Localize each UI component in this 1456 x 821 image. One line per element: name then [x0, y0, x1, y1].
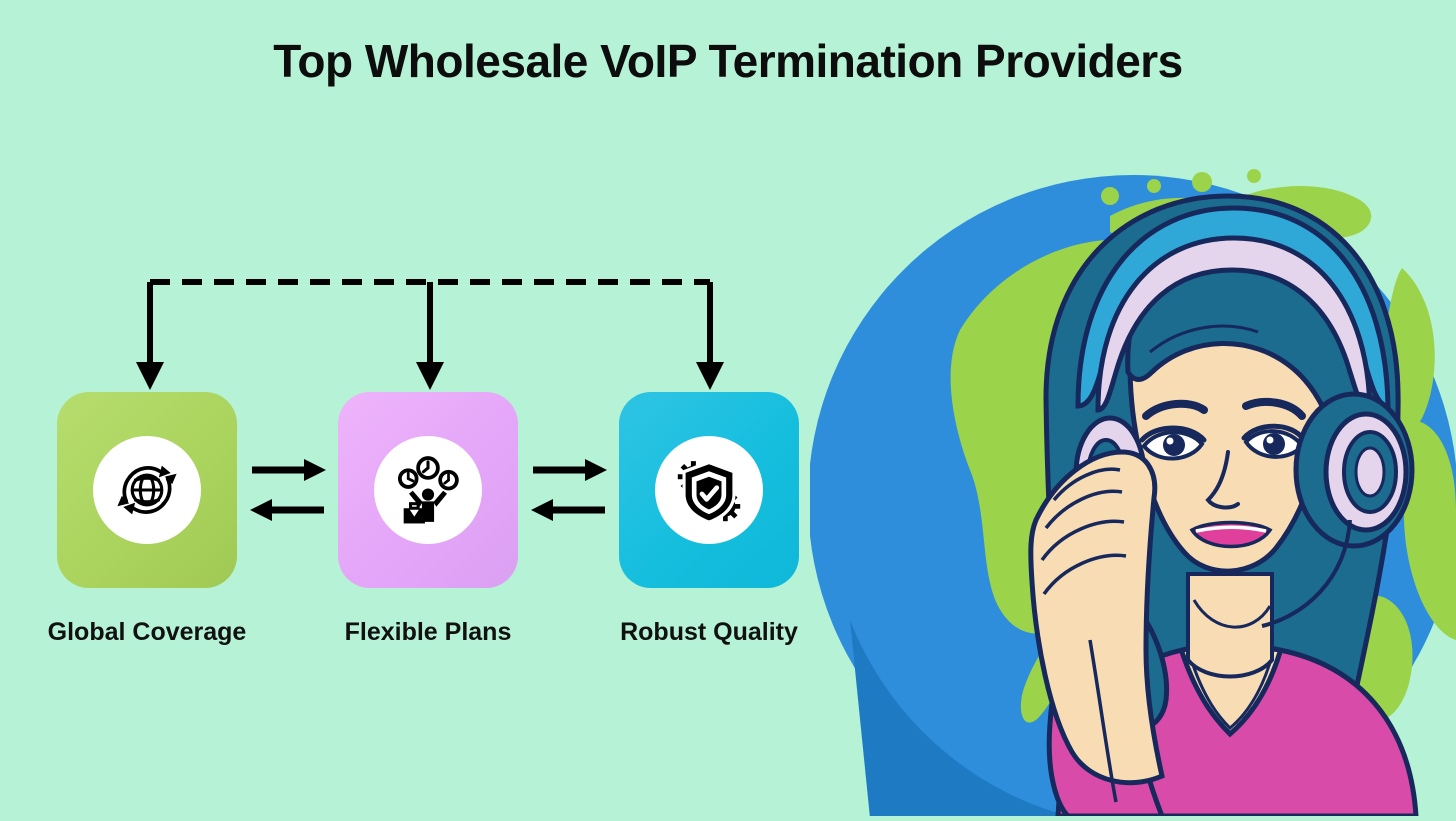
icon-disc: [374, 436, 482, 544]
island-2: [1147, 179, 1161, 193]
person-arm-right: [433, 491, 447, 507]
globe-refresh-icon: [110, 453, 184, 527]
arrow-right-2-head: [585, 459, 607, 481]
icon-disc: [655, 436, 763, 544]
woman-with-headphones-globe-illustration: [810, 0, 1456, 816]
arrowhead-bottom: [123, 503, 135, 515]
island-3: [1192, 172, 1212, 192]
woman-figure: [1031, 196, 1416, 816]
clock-right: [440, 472, 457, 489]
flow-card-label-robust-quality: Robust Quality: [589, 618, 829, 647]
flow-card-label-flexible-plans: Flexible Plans: [308, 618, 548, 647]
arrow-right-1-head: [304, 459, 326, 481]
infographic-canvas: Top Wholesale VoIP Termination Providers: [0, 0, 1456, 816]
flow-card-flexible-plans[interactable]: [338, 392, 518, 588]
arrow-left-2-head: [531, 499, 553, 521]
down-arrowhead-1: [136, 362, 164, 390]
process-flow-diagram: Global Coverage Flexible Plans Robust Qu…: [0, 0, 830, 816]
island-4: [1247, 169, 1261, 183]
island-1: [1101, 187, 1119, 205]
down-arrowhead-2: [416, 362, 444, 390]
person-head: [422, 488, 434, 500]
arrow-left-1-head: [250, 499, 272, 521]
flow-card-global-coverage[interactable]: [57, 392, 237, 588]
headphone-earcup-right: [1296, 394, 1412, 546]
flow-card-robust-quality[interactable]: [619, 392, 799, 588]
briefcase-handle: [411, 504, 419, 509]
icon-disc: [93, 436, 201, 544]
clock-center: [418, 458, 438, 478]
illustration-svg: [810, 0, 1456, 816]
person-juggling-clocks-icon: [390, 452, 466, 528]
clock-left: [400, 470, 417, 487]
down-arrowhead-3: [696, 362, 724, 390]
flow-card-label-global-coverage: Global Coverage: [17, 618, 277, 647]
shield-check-gears-icon: [670, 451, 748, 529]
